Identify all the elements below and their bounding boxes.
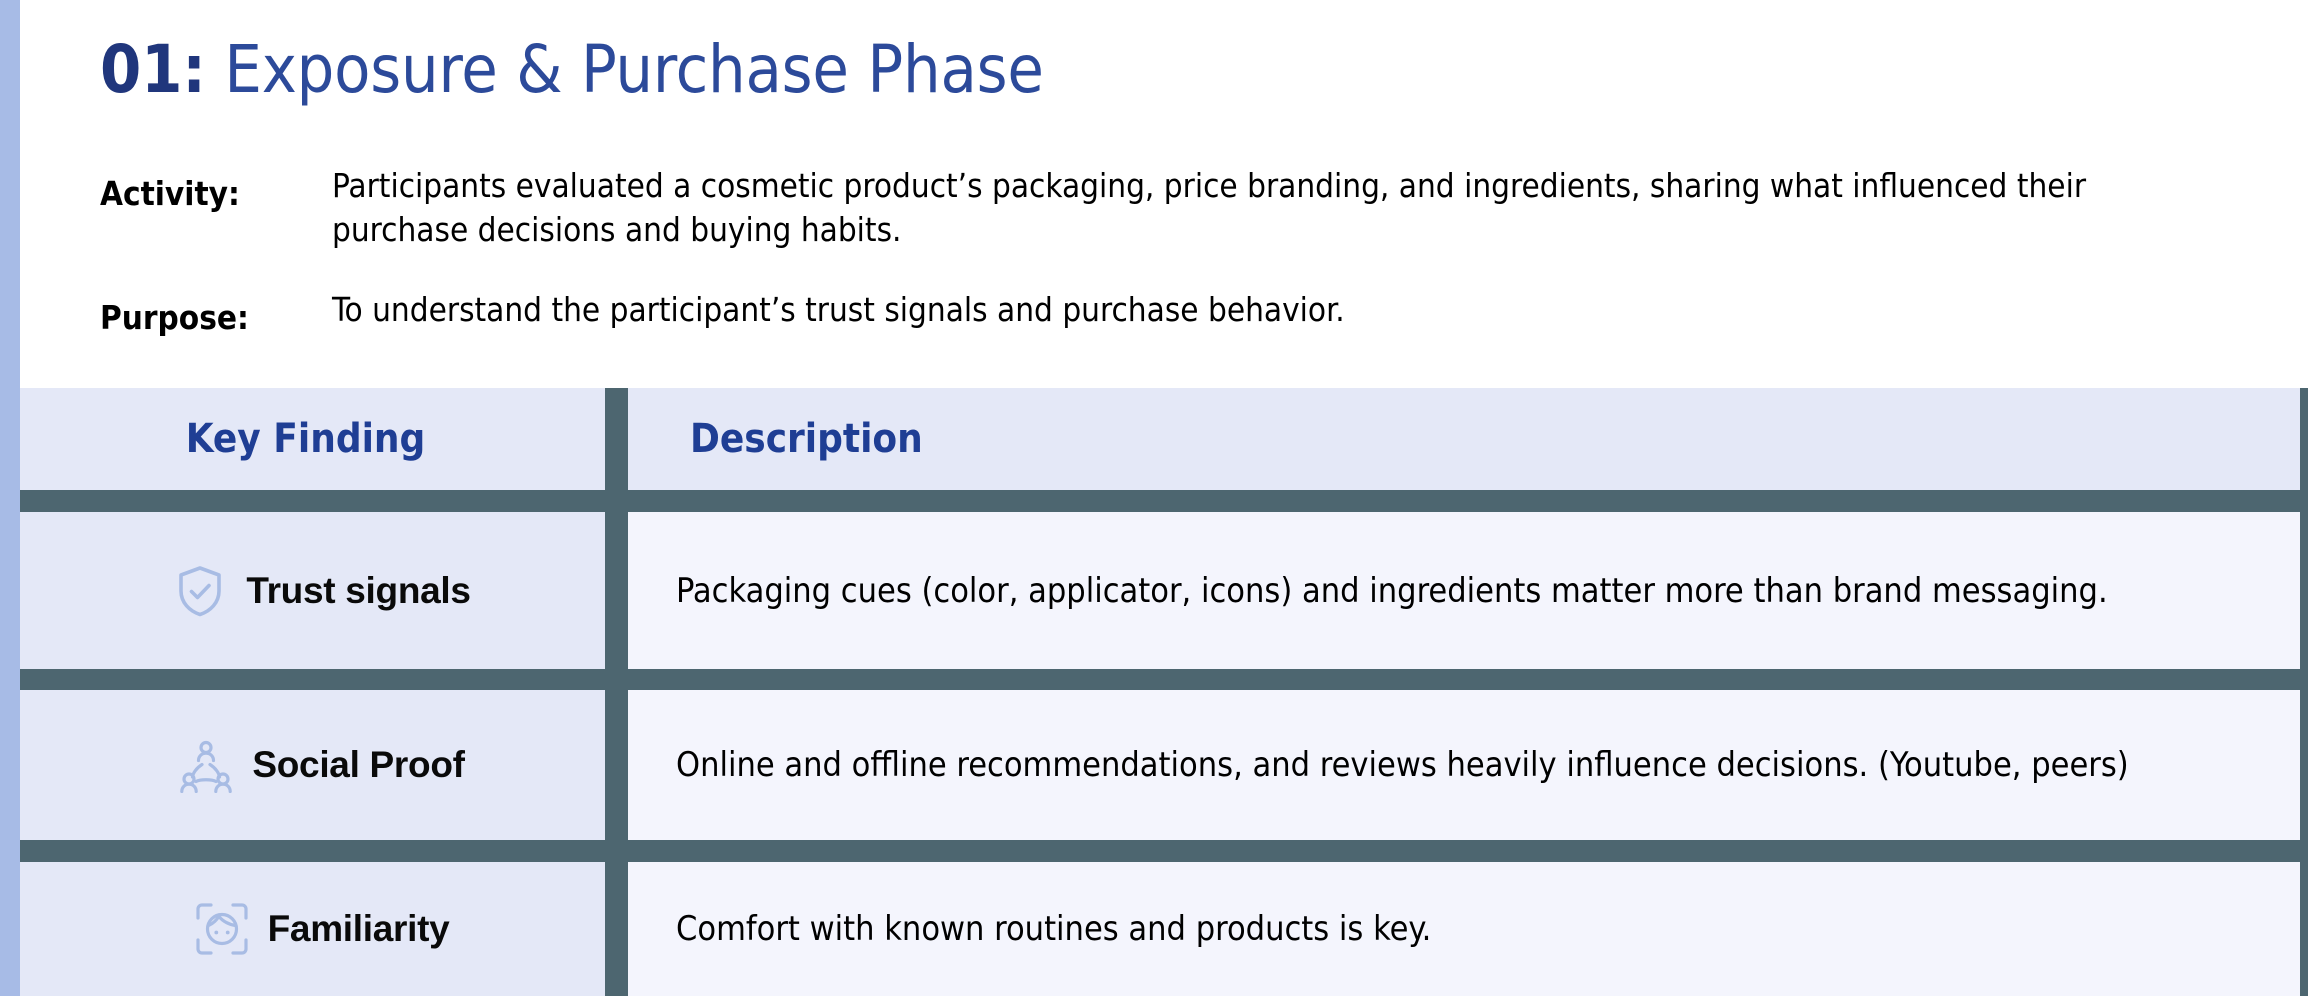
key-finding-label: Familiarity [268,907,450,951]
table-header-cell-key-finding: Key Finding [20,388,605,490]
activity-text: Participants evaluated a cosmetic produc… [332,164,2122,252]
description-text: Packaging cues (color, applicator, icons… [628,568,2158,614]
column-header-key-finding: Key Finding [20,415,605,463]
description-text: Comfort with known routines and products… [628,906,1481,952]
activity-label: Activity: [100,164,332,216]
table-header-row: Key Finding Description [0,388,2308,490]
face-scan-icon [194,901,250,957]
header-block: 01: Exposure & Purchase Phase Activity: … [20,0,2308,388]
table-cell-description: Packaging cues (color, applicator, icons… [628,512,2300,669]
table-cell-key-finding: Trust signals [20,512,605,669]
table-header-cell-description: Description [628,388,2300,490]
shield-check-icon [172,563,228,619]
page-title-number: 01: [100,31,206,108]
findings-table: Key Finding Description Trust signals [0,388,2308,996]
table-cell-description: Comfort with known routines and products… [628,862,2300,996]
description-text: Online and offline recommendations, and … [628,742,2179,788]
table-cell-key-finding: Familiarity [20,862,605,996]
column-header-description: Description [628,415,923,463]
activity-row: Activity: Participants evaluated a cosme… [100,164,2230,252]
key-finding-label: Trust signals [246,569,470,613]
purpose-text: To understand the participant’s trust si… [332,288,2122,332]
left-accent-stripe [0,0,20,996]
table-row[interactable]: Familiarity Comfort with known routines … [0,862,2308,996]
table-row[interactable]: Trust signals Packaging cues (color, app… [0,512,2308,669]
page-title-text: Exposure & Purchase Phase [206,31,1044,108]
purpose-row: Purpose: To understand the participant’s… [100,288,2230,340]
purpose-label: Purpose: [100,288,332,340]
table-cell-description: Online and offline recommendations, and … [628,690,2300,840]
table-row[interactable]: Social Proof Online and offline recommen… [0,690,2308,840]
key-finding-label: Social Proof [252,743,464,787]
table-cell-key-finding: Social Proof [20,690,605,840]
slide-root: 01: Exposure & Purchase Phase Activity: … [0,0,2308,996]
page-title: 01: Exposure & Purchase Phase [100,34,1044,106]
social-group-icon [178,737,234,793]
